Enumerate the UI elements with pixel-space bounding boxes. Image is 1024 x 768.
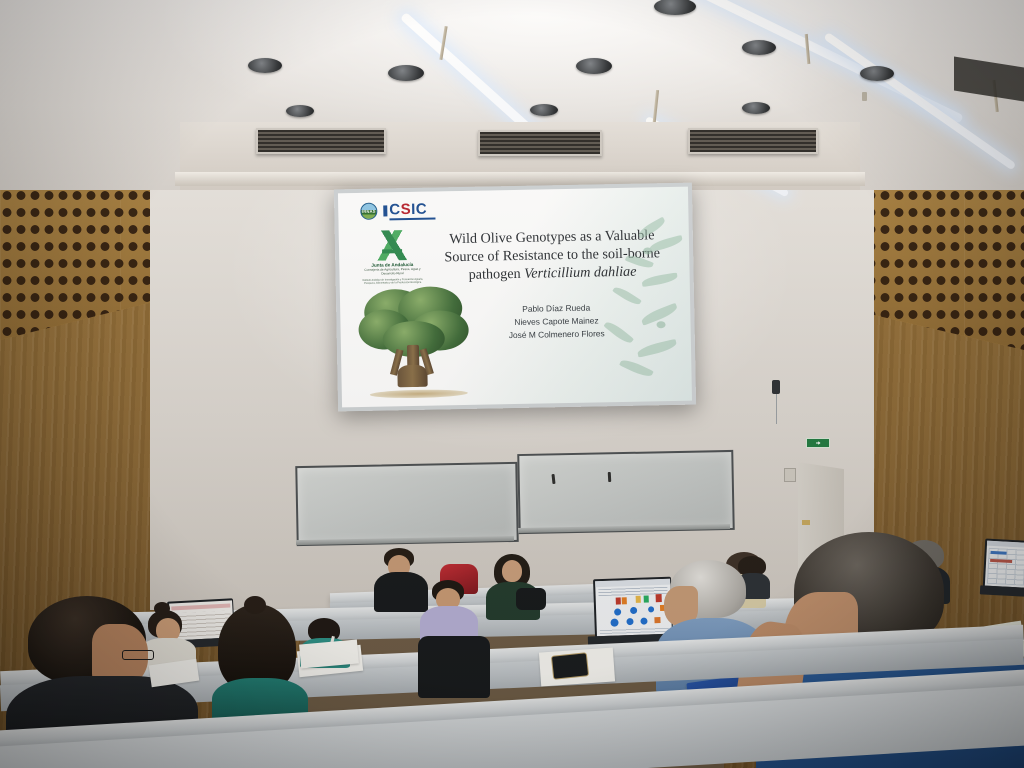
junta-a-icon <box>375 230 410 261</box>
notebook-open-right[interactable] <box>299 640 359 669</box>
junta-de-andalucia-logo: Junta de Andalucía Consejería de Agricul… <box>361 230 424 285</box>
csic-c: C <box>389 201 401 218</box>
hair-topknot <box>244 596 266 614</box>
light-switch-plate[interactable] <box>784 468 796 482</box>
door-handle-plate[interactable] <box>802 520 810 525</box>
laptop-spreadsheet-lid <box>983 539 1024 590</box>
projection-screen[interactable]: IRNAS CSIC Junta d <box>334 183 696 412</box>
hvac-vent-1 <box>256 128 386 154</box>
irnas-logo-text: IRNAS <box>362 209 376 214</box>
attendee-woman-teal <box>212 604 304 714</box>
hvac-vent-2 <box>478 130 602 156</box>
recessed-spotlight-8 <box>742 102 770 114</box>
black-handbag <box>516 588 546 610</box>
recessed-spotlight-4 <box>742 40 776 55</box>
csic-s: S <box>400 201 411 218</box>
irnas-logo-icon: IRNAS <box>360 203 377 220</box>
exit-sign <box>806 438 830 448</box>
wall-camera-device <box>772 380 780 394</box>
junta-subtitle-2: Instituto Andaluz de Investigación y For… <box>362 277 424 284</box>
recessed-spotlight-2 <box>388 65 424 81</box>
ceiling-sprinkler <box>862 92 867 101</box>
recessed-spotlight-6 <box>286 105 314 117</box>
attendee-man-lavender <box>420 580 478 642</box>
hvac-vent-3 <box>688 128 818 154</box>
csic-logo: CSIC <box>389 202 435 218</box>
laptop-spreadsheet-screen <box>984 540 1024 588</box>
recessed-spotlight-5 <box>860 66 894 81</box>
screen-frame: IRNAS CSIC Junta d <box>334 183 696 412</box>
olive-branch-illustration <box>581 217 693 394</box>
csic-tick-icon <box>383 206 387 217</box>
presentation-slide: IRNAS CSIC Junta d <box>338 187 692 408</box>
smartphone[interactable] <box>551 652 589 680</box>
laptop-spreadsheet[interactable] <box>984 540 1024 602</box>
junta-subtitle: Consejería de Agricultura, Pesca, Agua y… <box>361 268 423 277</box>
lecture-hall-photo: IRNAS CSIC Junta d <box>0 0 1024 768</box>
whiteboard-left[interactable] <box>295 462 518 546</box>
recessed-spotlight-3 <box>576 58 612 74</box>
soffit-lip <box>175 172 865 186</box>
eyeglasses-icon <box>122 650 154 660</box>
device-cable <box>776 394 777 424</box>
tree-ground-shadow <box>370 389 468 399</box>
black-bag[interactable] <box>418 636 490 698</box>
csic-ic: IC <box>411 201 427 218</box>
exit-running-figure-icon <box>816 441 821 446</box>
recessed-spotlight-1 <box>248 58 282 73</box>
whiteboard-right[interactable] <box>517 450 734 534</box>
title-line-3: pathogen <box>468 266 524 283</box>
recessed-spotlight-7 <box>530 104 558 116</box>
whiteboard-marker-2[interactable] <box>608 472 612 482</box>
olive-tree-image <box>358 286 478 400</box>
laptop-spreadsheet-keyboard[interactable] <box>980 585 1024 597</box>
